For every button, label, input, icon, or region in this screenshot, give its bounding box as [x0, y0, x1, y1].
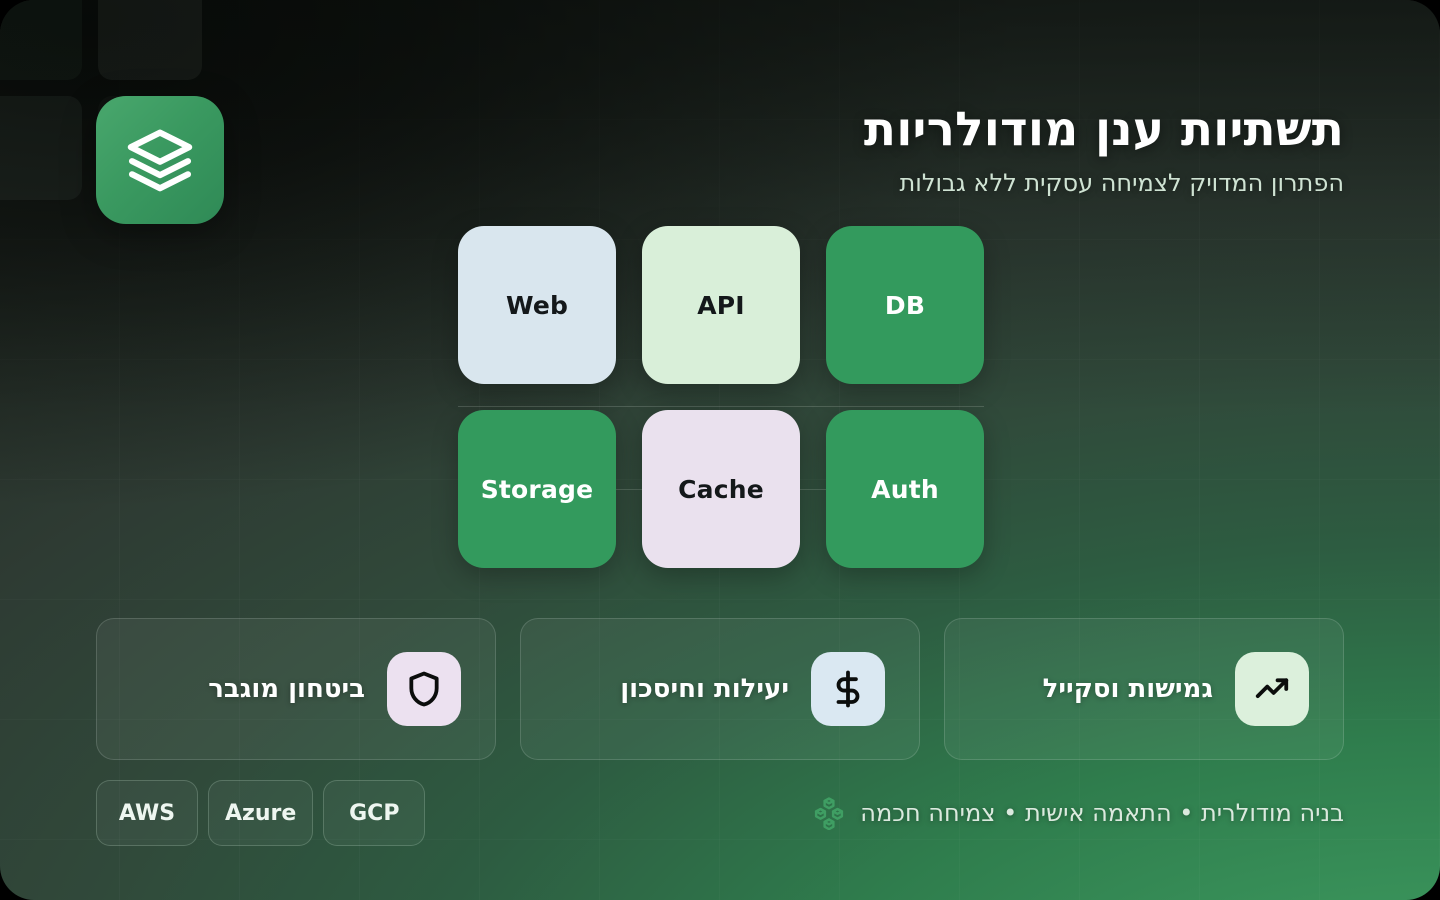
module-tile-auth[interactable]: Auth [826, 410, 984, 568]
module-tile-label: API [697, 291, 745, 320]
decorative-square [0, 96, 82, 200]
module-tile-label: Auth [871, 475, 939, 504]
module-tile-label: DB [885, 291, 925, 320]
poster-canvas: תשתיות ענן מודולריות הפתרון המדויק לצמיח… [0, 0, 1440, 900]
feature-icon-wrap [387, 652, 461, 726]
page-subtitle: הפתרון המדויק לצמיחה עסקית ללא גבולות [864, 169, 1344, 198]
feature-card-scalability[interactable]: גמישות וסקייל [944, 618, 1344, 760]
footer-bar: AWS Azure GCP בניה מודולרית • התאמה אישי… [96, 780, 1344, 846]
decorative-square [98, 0, 202, 80]
footer-tagline-group: בניה מודולרית • התאמה אישית • צמיחה חכמה [812, 796, 1344, 830]
shield-icon [405, 670, 443, 708]
decorative-square [0, 0, 82, 80]
module-tile-storage[interactable]: Storage [458, 410, 616, 568]
feature-icon-wrap [811, 652, 885, 726]
dollar-sign-icon [829, 670, 867, 708]
feature-icon-wrap [1235, 652, 1309, 726]
feature-card-label: ביטחון מוגבר [208, 674, 365, 704]
module-tile-label: Storage [481, 475, 594, 504]
page-title: תשתיות ענן מודולריות [864, 104, 1344, 157]
header-block: תשתיות ענן מודולריות הפתרון המדויק לצמיח… [864, 104, 1344, 197]
feature-card-label: יעילות וחיסכון [620, 674, 789, 704]
feature-card-security[interactable]: ביטחון מוגבר [96, 618, 496, 760]
module-tile-web[interactable]: Web [458, 226, 616, 384]
module-tile-label: Cache [678, 475, 764, 504]
module-tile-label: Web [506, 291, 568, 320]
module-tile-api[interactable]: API [642, 226, 800, 384]
module-tile-db[interactable]: DB [826, 226, 984, 384]
module-grid: DB API Web Auth Cache Storage [458, 226, 984, 568]
badge-label: GCP [349, 801, 399, 826]
badge-gcp[interactable]: GCP [323, 780, 425, 846]
feature-card-list: גמישות וסקייל יעילות וחיסכון [96, 618, 1344, 760]
badge-label: AWS [119, 801, 175, 826]
badge-label: Azure [225, 801, 296, 826]
trending-up-icon [1253, 670, 1291, 708]
boxes-icon [812, 796, 846, 830]
brand-logo [96, 96, 224, 224]
footer-tagline: בניה מודולרית • התאמה אישית • צמיחה חכמה [860, 799, 1344, 827]
badge-aws[interactable]: AWS [96, 780, 198, 846]
badge-azure[interactable]: Azure [208, 780, 313, 846]
module-tile-cache[interactable]: Cache [642, 410, 800, 568]
feature-card-efficiency[interactable]: יעילות וחיסכון [520, 618, 920, 760]
layers-icon [125, 125, 195, 195]
cloud-provider-badges: AWS Azure GCP [96, 780, 425, 846]
feature-card-label: גמישות וסקייל [1043, 674, 1213, 704]
